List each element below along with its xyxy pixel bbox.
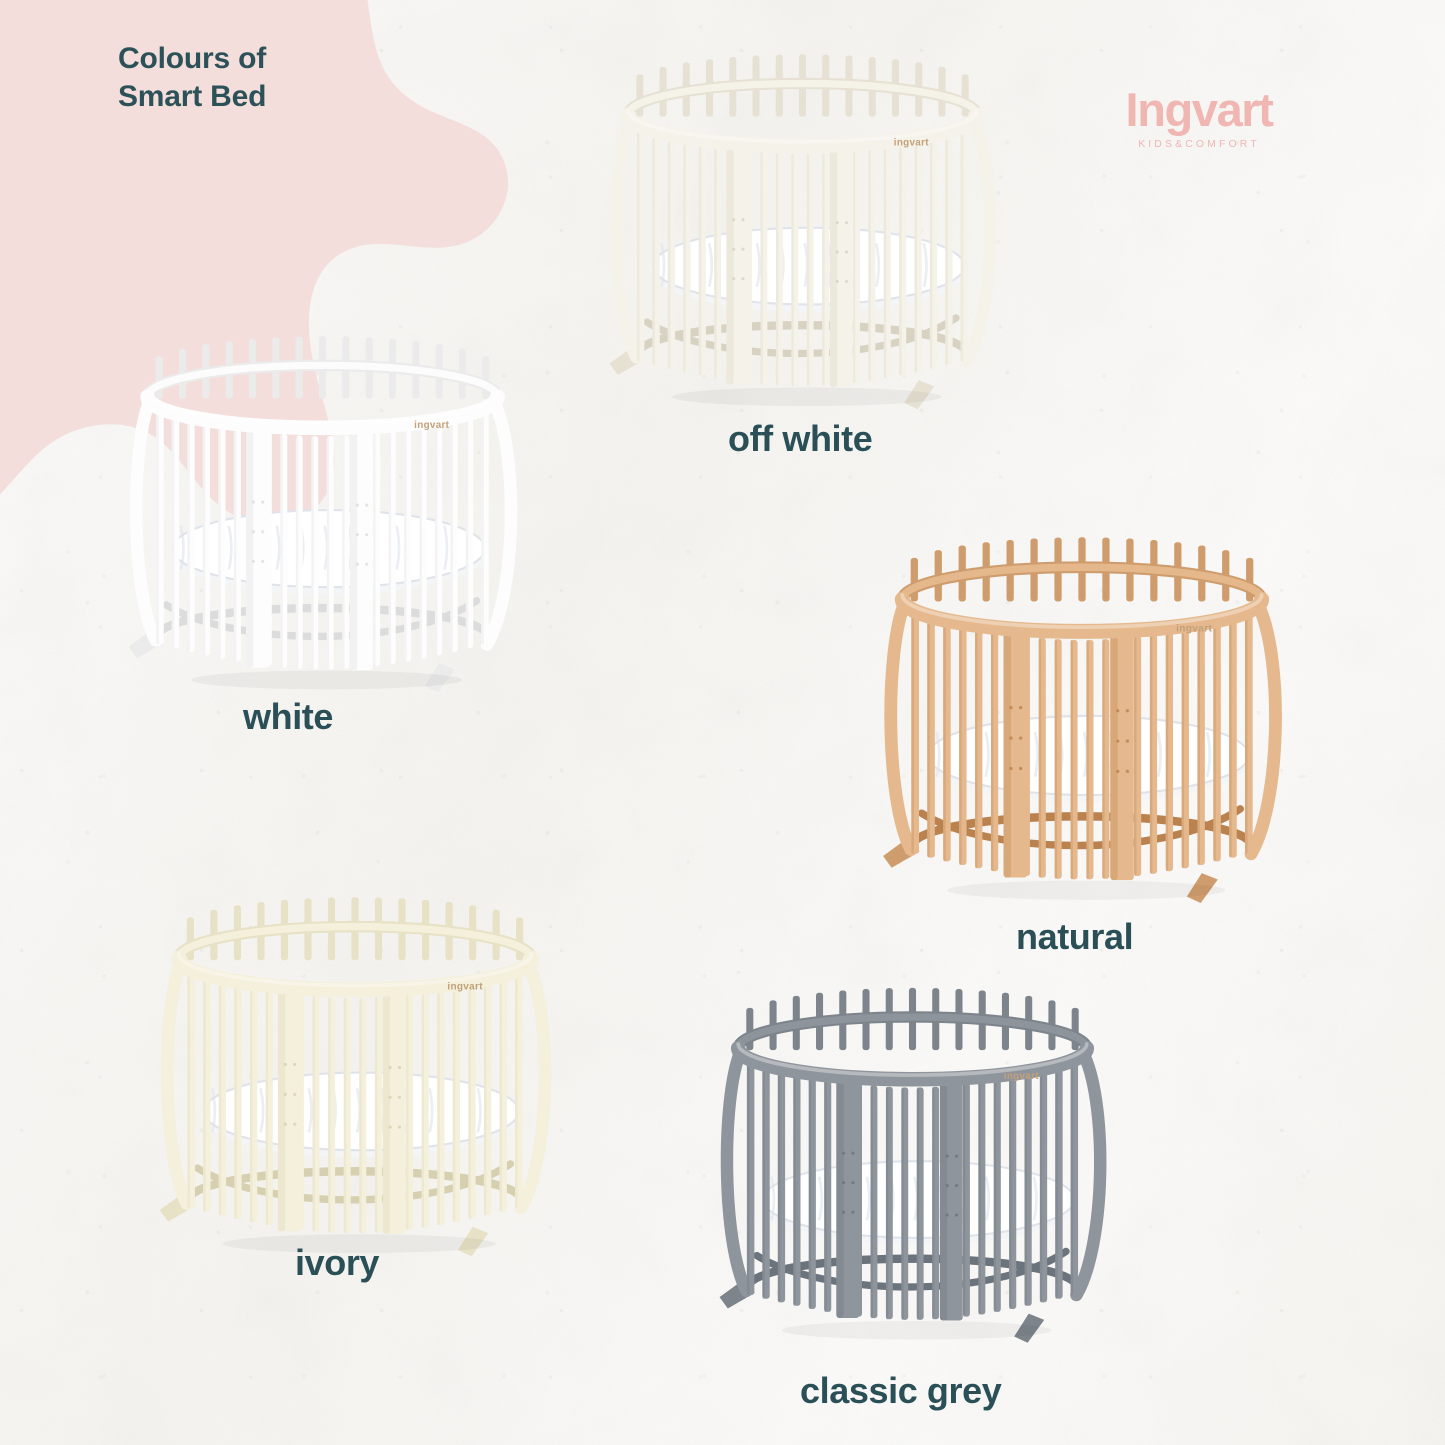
product-image-ivory[interactable]: ingvart <box>135 893 575 1271</box>
brand-logo: Ingvart KIDS&COMFORT <box>1089 86 1309 150</box>
product-image-classic-grey[interactable]: ingvart <box>705 983 1120 1358</box>
product-caption-classic-grey: classic grey <box>800 1370 1001 1412</box>
svg-text:ingvart: ingvart <box>447 982 483 993</box>
crib-illustration-classic-grey: ingvart <box>705 983 1120 1358</box>
crib-illustration-white: ingvart <box>100 332 545 707</box>
crib-illustration-natural: ingvart <box>862 533 1302 918</box>
product-image-white[interactable]: ingvart <box>100 332 545 707</box>
product-caption-off-white: off white <box>728 418 872 460</box>
svg-text:ingvart: ingvart <box>1004 1071 1039 1082</box>
page-title-line-1: Colours of <box>118 40 266 78</box>
page-title: Colours of Smart Bed <box>118 40 266 117</box>
svg-text:ingvart: ingvart <box>1176 623 1212 634</box>
brand-tagline: KIDS&COMFORT <box>1089 138 1309 150</box>
crib-illustration-off-white: ingvart <box>595 48 1010 426</box>
svg-text:ingvart: ingvart <box>414 420 450 431</box>
svg-text:ingvart: ingvart <box>894 138 929 149</box>
brand-name: Ingvart <box>1089 86 1309 133</box>
product-image-natural[interactable]: ingvart <box>862 533 1302 918</box>
product-caption-natural: natural <box>1016 916 1133 958</box>
product-caption-ivory: ivory <box>295 1242 379 1284</box>
crib-illustration-ivory: ingvart <box>135 893 575 1271</box>
product-caption-white: white <box>243 696 333 738</box>
page-title-line-2: Smart Bed <box>118 78 266 116</box>
product-image-off-white[interactable]: ingvart <box>595 48 1010 426</box>
